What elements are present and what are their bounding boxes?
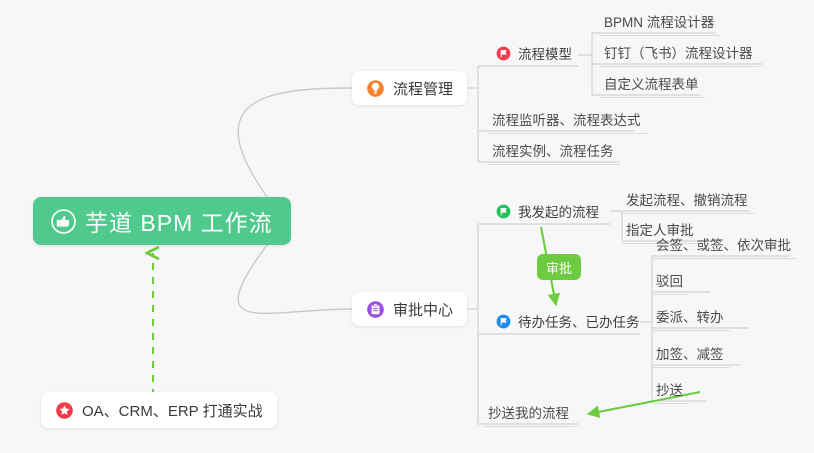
flag-icon <box>496 46 511 61</box>
thumbs-up-icon <box>51 209 76 234</box>
side-note-label: OA、CRM、ERP 打通实战 <box>82 400 263 421</box>
leaf-process-instance[interactable]: 流程实例、流程任务 <box>488 139 620 165</box>
leaf-bpmn-designer[interactable]: BPMN 流程设计器 <box>600 10 720 36</box>
leaf-label: 会签、或签、依次审批 <box>656 234 791 254</box>
leaf-reject[interactable]: 驳回 <box>652 269 689 295</box>
subnode-label-todo-done-task: 待办任务、已办任务 <box>518 311 640 331</box>
branch-label-process-management: 流程管理 <box>393 78 453 99</box>
leaf-label: BPMN 流程设计器 <box>604 11 714 31</box>
subnode-label-my-started-process: 我发起的流程 <box>518 201 599 221</box>
leaf-label: 自定义流程表单 <box>604 73 699 93</box>
subnode-process-model[interactable]: 流程模型 <box>494 41 574 67</box>
leaf-label: 流程监听器、流程表达式 <box>492 109 641 129</box>
link-root-to-process-management <box>238 88 352 214</box>
flag-icon <box>496 314 511 329</box>
clipboard-icon <box>366 300 385 319</box>
leaf-label: 驳回 <box>656 270 683 290</box>
leaf-countersign[interactable]: 会签、或签、依次审批 <box>652 233 797 259</box>
leaf-label: 加签、减签 <box>656 343 724 363</box>
annotation-tag-approve: 审批 <box>537 254 581 280</box>
lightbulb-icon <box>366 79 385 98</box>
branch-node-process-management[interactable]: 流程管理 <box>352 71 467 105</box>
leaf-dingtalk-designer[interactable]: 钉钉（飞书）流程设计器 <box>600 41 759 67</box>
root-node[interactable]: 芋道 BPM 工作流 <box>33 197 291 245</box>
mindmap-canvas: 芋道 BPM 工作流 OA、CRM、ERP 打通实战 流程管理 <box>0 0 814 453</box>
subnode-label-process-model: 流程模型 <box>518 43 572 63</box>
leaf-custom-form[interactable]: 自定义流程表单 <box>600 72 705 98</box>
flag-icon <box>496 204 511 219</box>
leaf-process-listener[interactable]: 流程监听器、流程表达式 <box>488 108 647 134</box>
leaf-label: 发起流程、撤销流程 <box>626 189 748 209</box>
leaf-label: 委派、转办 <box>656 306 724 326</box>
subnode-todo-done-task[interactable]: 待办任务、已办任务 <box>494 309 642 335</box>
annotation-tag-label: 审批 <box>546 258 572 277</box>
branch-node-approval-center[interactable]: 审批中心 <box>352 292 467 326</box>
leaf-label: 抄送 <box>656 379 683 399</box>
side-note-node[interactable]: OA、CRM、ERP 打通实战 <box>41 392 277 428</box>
subnode-my-started-process[interactable]: 我发起的流程 <box>494 199 601 225</box>
leaf-label: 钉钉（飞书）流程设计器 <box>604 42 753 62</box>
leaf-cc-to-me-process[interactable]: 抄送我的流程 <box>484 401 575 427</box>
leaf-cc[interactable]: 抄送 <box>652 378 689 404</box>
leaf-label: 抄送我的流程 <box>488 402 569 422</box>
leaf-add-remove-sign[interactable]: 加签、减签 <box>652 342 730 368</box>
leaf-delegate-transfer[interactable]: 委派、转办 <box>652 305 730 331</box>
leaf-label: 流程实例、流程任务 <box>492 140 614 160</box>
branch-label-approval-center: 审批中心 <box>393 299 453 320</box>
leaf-start-cancel-process[interactable]: 发起流程、撤销流程 <box>622 188 754 214</box>
root-label: 芋道 BPM 工作流 <box>85 204 273 238</box>
star-badge-icon <box>55 401 74 420</box>
